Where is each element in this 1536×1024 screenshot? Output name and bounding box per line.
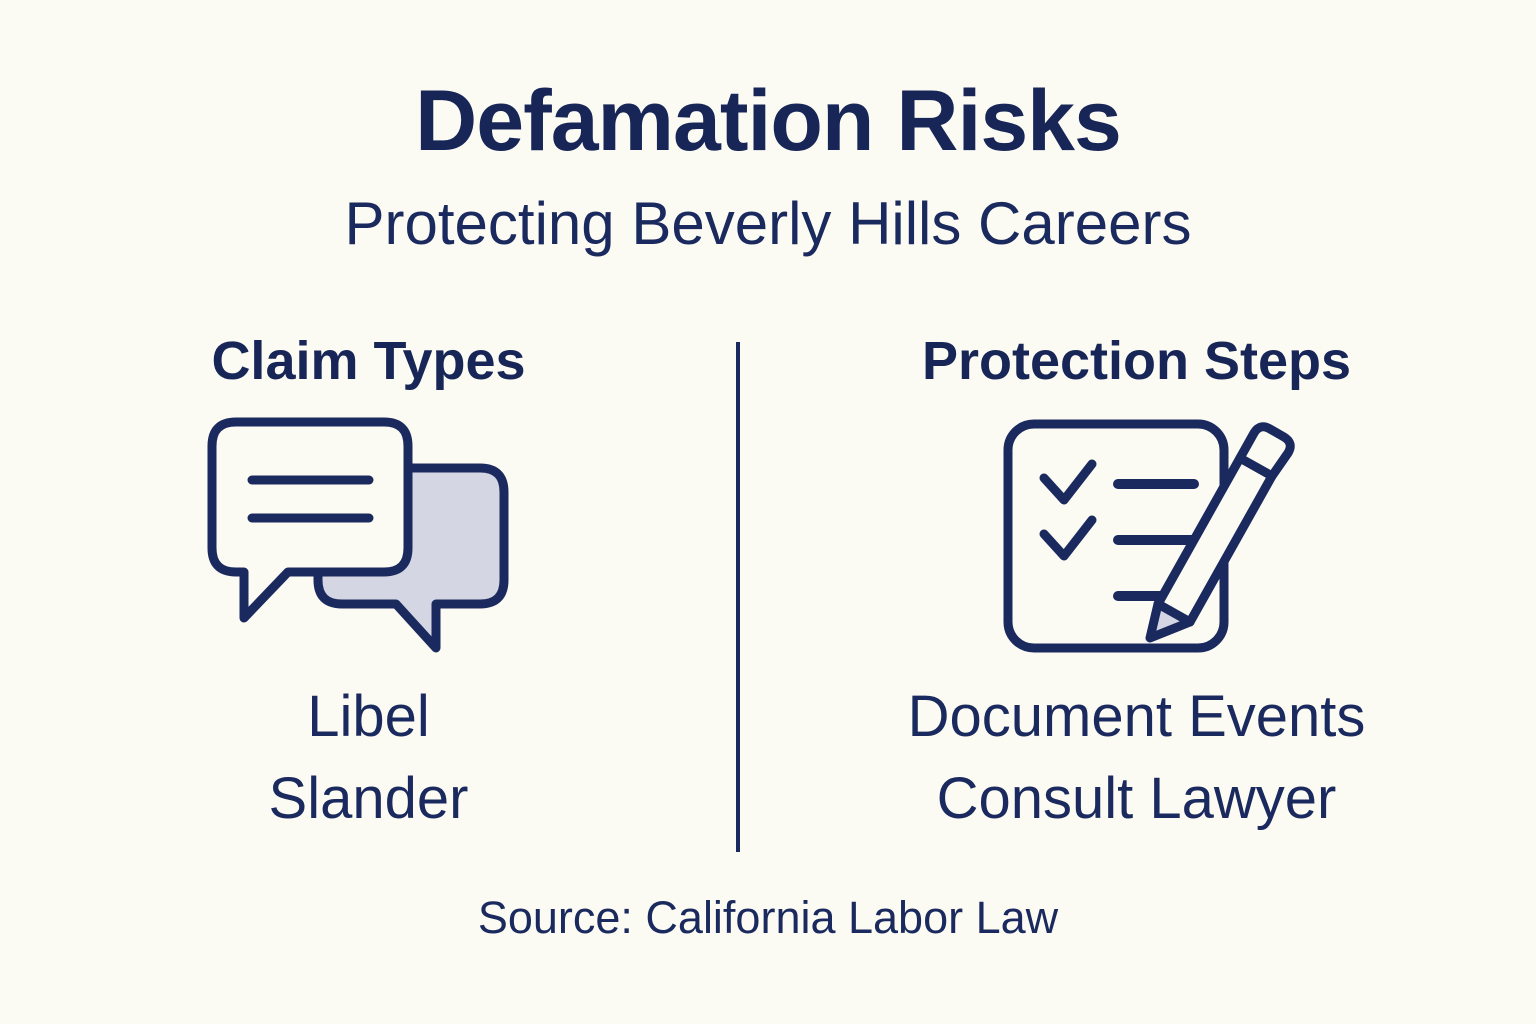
column-heading-claim-types: Claim Types: [211, 334, 525, 396]
columns-container: Claim Types Libel Slander Protection: [0, 334, 1536, 864]
infographic-canvas: Defamation Risks Protecting Beverly Hill…: [0, 0, 1536, 1024]
header: Defamation Risks Protecting Beverly Hill…: [0, 78, 1536, 254]
claim-types-list: Libel Slander: [269, 676, 469, 841]
list-item: Document Events: [908, 676, 1366, 758]
speech-bubbles-icon: [204, 412, 534, 662]
page-subtitle: Protecting Beverly Hills Careers: [0, 194, 1536, 254]
protection-steps-list: Document Events Consult Lawyer: [908, 676, 1366, 841]
list-item: Consult Lawyer: [908, 758, 1366, 840]
column-protection-steps: Protection Steps: [737, 334, 1536, 864]
footer: Source: California Labor Law: [0, 895, 1536, 940]
speech-bubbles-icon-wrap: [204, 402, 534, 672]
checklist-pencil-icon: [972, 412, 1302, 662]
page-title: Defamation Risks: [0, 78, 1536, 164]
source-attribution: Source: California Labor Law: [0, 895, 1536, 940]
checklist-pencil-icon-wrap: [972, 402, 1302, 672]
column-heading-protection-steps: Protection Steps: [922, 334, 1351, 396]
list-item: Libel: [269, 676, 469, 758]
list-item: Slander: [269, 758, 469, 840]
column-claim-types: Claim Types Libel Slander: [0, 334, 737, 864]
